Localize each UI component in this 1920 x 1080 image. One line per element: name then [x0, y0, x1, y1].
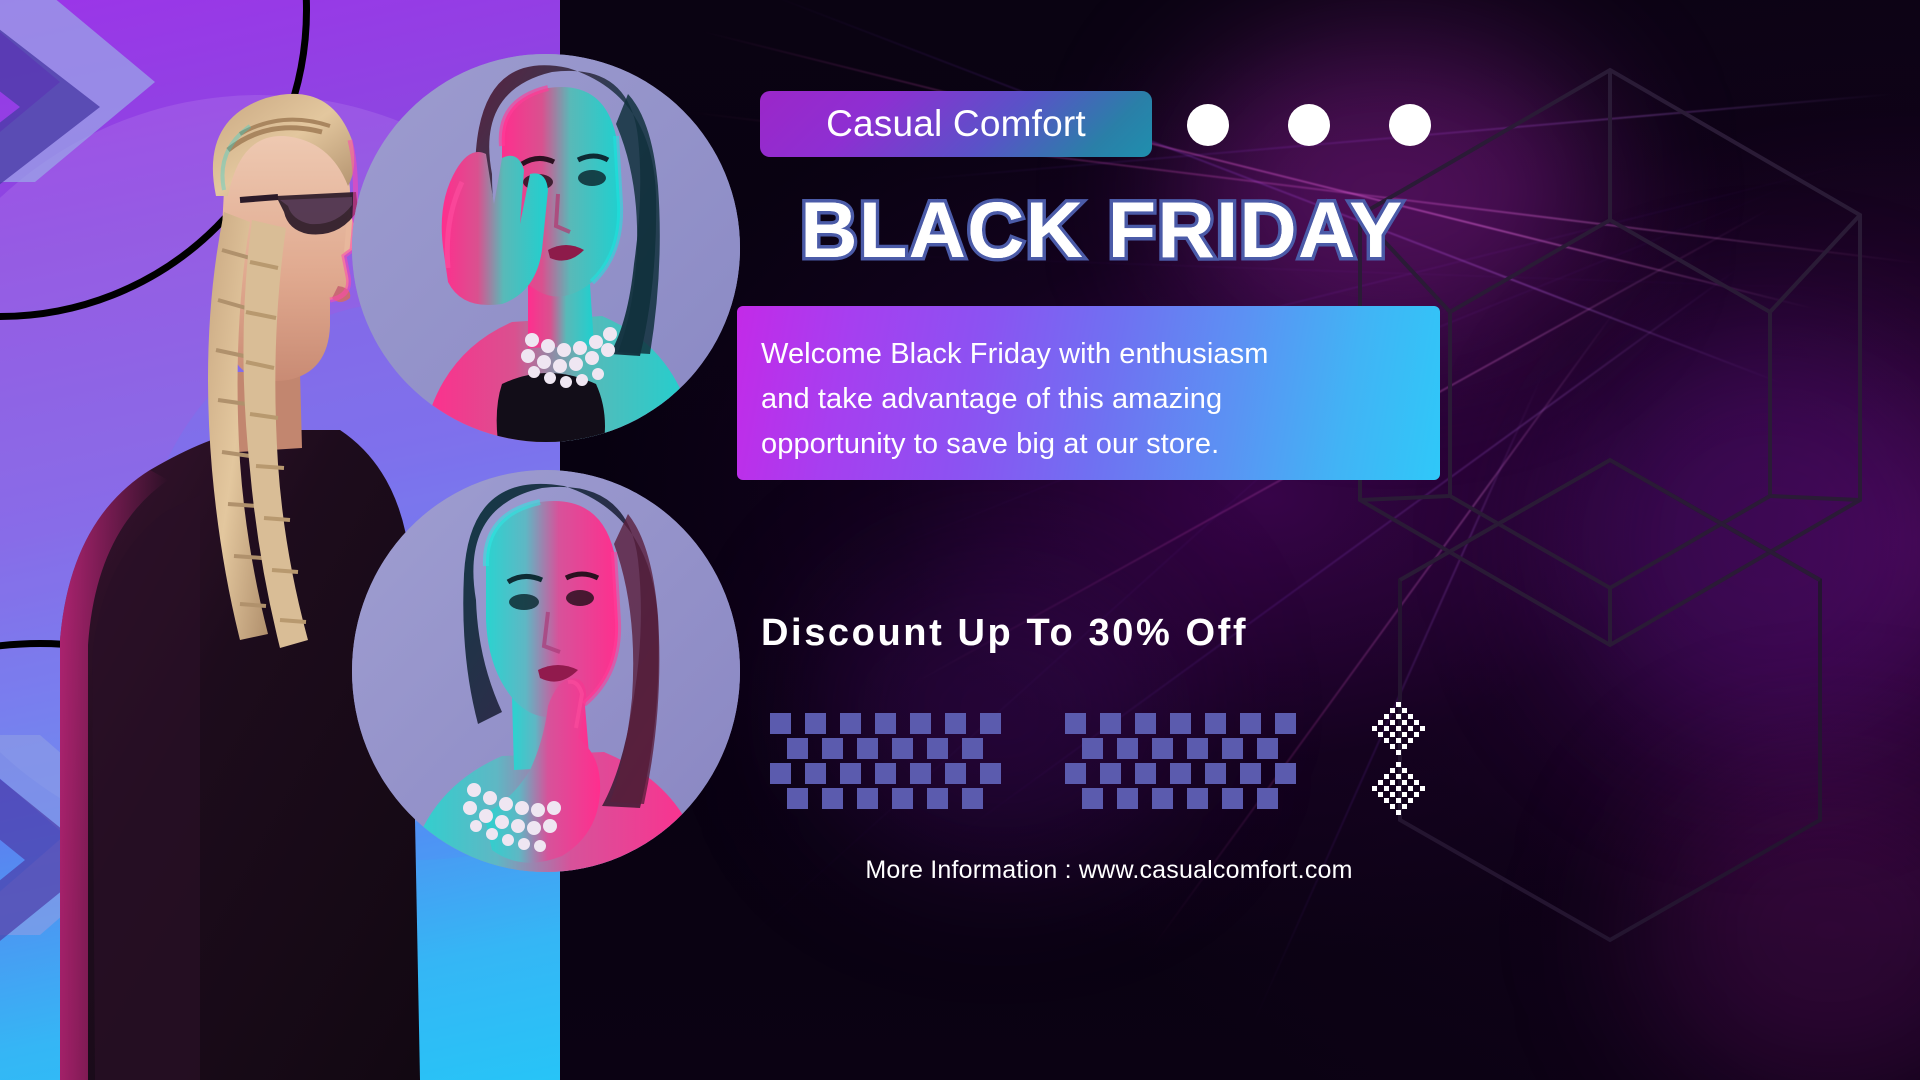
dotted-diamond-decor: [1362, 700, 1438, 822]
checker-pattern-block-2: [1065, 713, 1308, 810]
headline-title: BLACK FRIDAY: [757, 186, 1447, 274]
description-line-1: Welcome Black Friday with enthusiasm: [761, 332, 1440, 377]
decor-dots-group: [1187, 104, 1447, 148]
checker-pattern-block-1: [770, 713, 1013, 810]
footer-more-information[interactable]: More Information : www.casualcomfort.com: [759, 856, 1459, 885]
photo-circle-bottom: [352, 470, 740, 872]
brand-badge[interactable]: Casual Comfort: [760, 91, 1152, 157]
brand-badge-label: Casual Comfort: [826, 103, 1086, 145]
decor-dot-2: [1288, 104, 1330, 146]
discount-headline: Discount Up To 30% Off: [761, 612, 1461, 655]
description-line-3: opportunity to save big at our store.: [761, 422, 1440, 467]
photo-circle-top: [352, 54, 740, 442]
description-line-2: and take advantage of this amazing: [761, 377, 1440, 422]
decor-dot-1: [1187, 104, 1229, 146]
banner-canvas: Casual Comfort BLACK FRIDAY BLACK FRIDAY…: [0, 0, 1920, 1080]
decor-dot-3: [1389, 104, 1431, 146]
promo-content: Casual Comfort BLACK FRIDAY BLACK FRIDAY…: [757, 0, 1920, 1080]
description-box: Welcome Black Friday with enthusiasm and…: [737, 306, 1440, 480]
